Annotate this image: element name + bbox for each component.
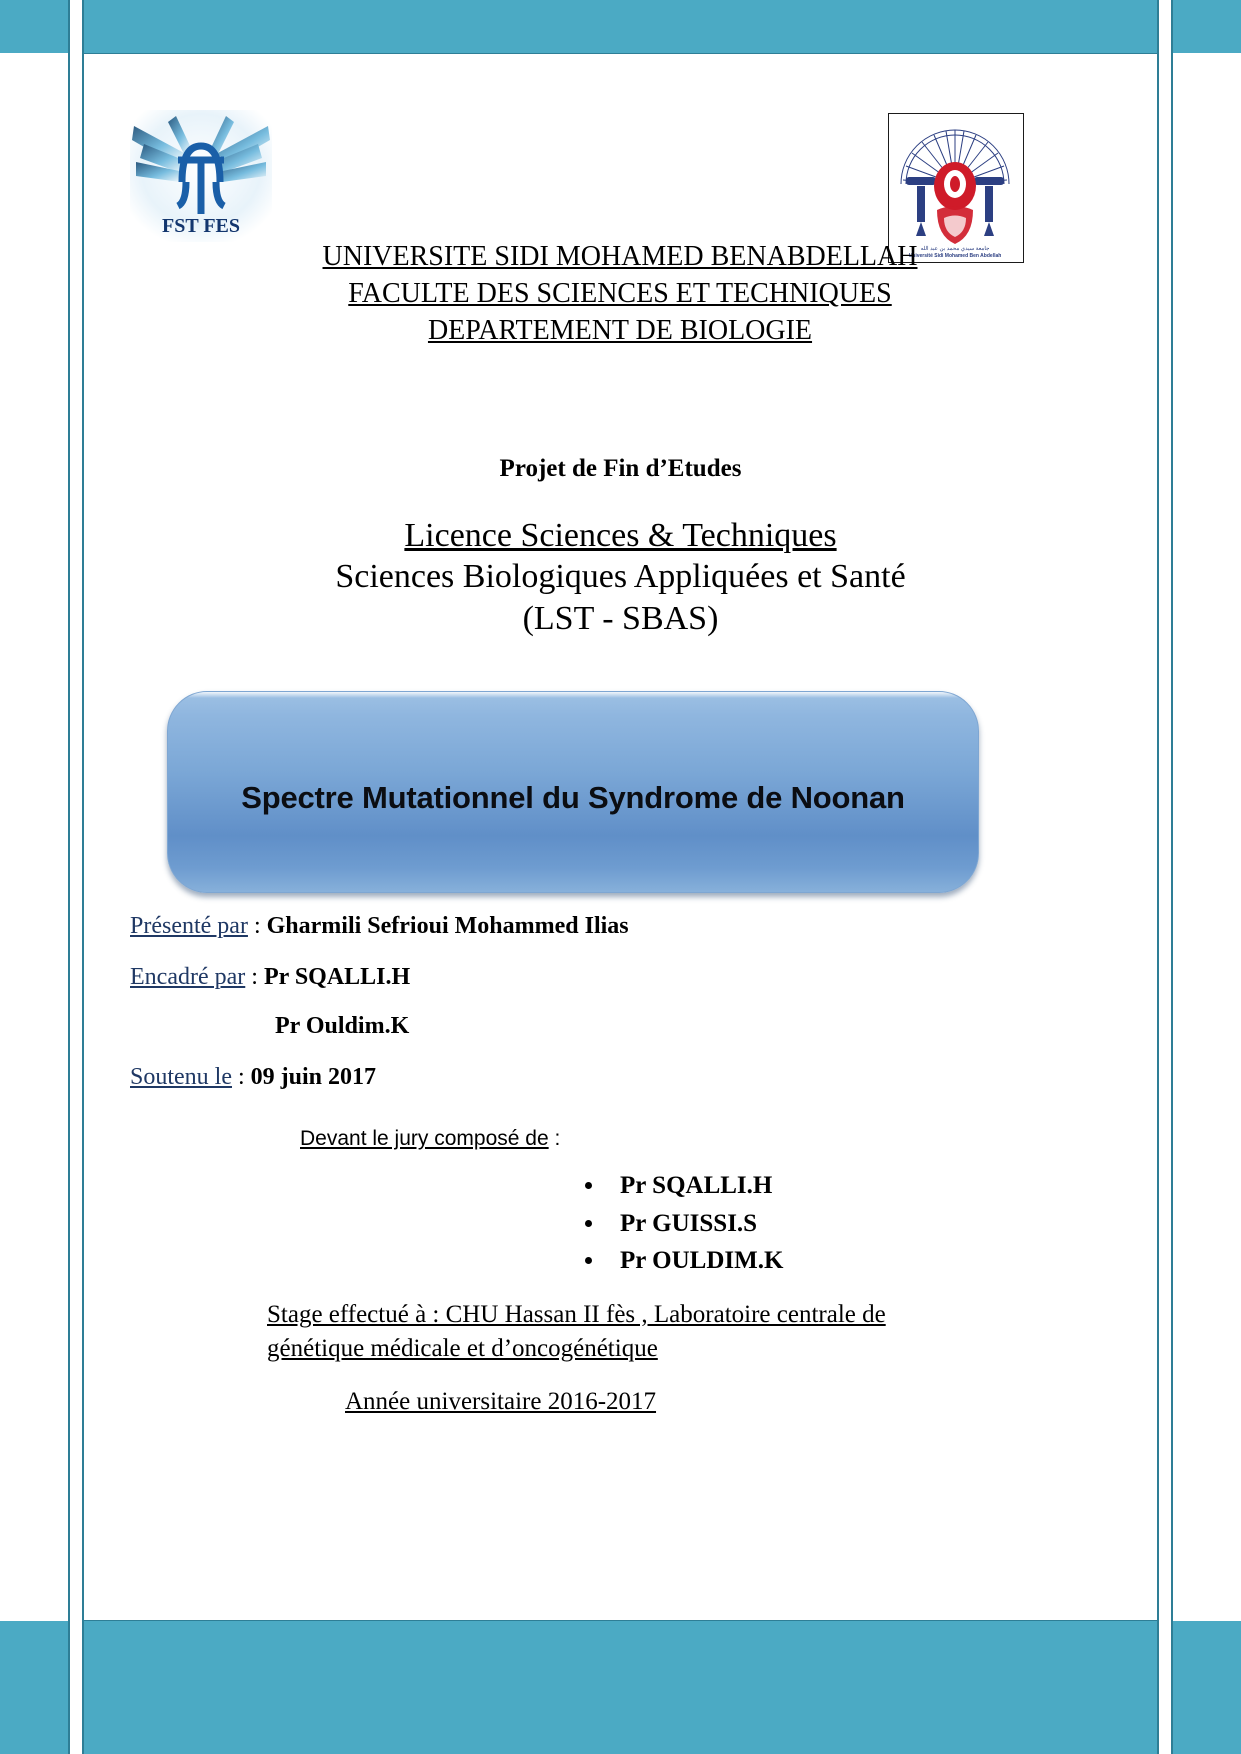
internship-line-2: génétique médicale et d’oncogénétique xyxy=(267,1335,658,1362)
border-rule-right-inner xyxy=(1157,0,1159,1754)
svg-text:FST FES: FST FES xyxy=(162,215,240,237)
border-rule-left-outer xyxy=(68,0,70,1754)
supervisor-value-secondary: Pr Ouldim.K xyxy=(275,1013,1130,1040)
defence-date-label: Soutenu le xyxy=(130,1064,232,1090)
border-rule-right-outer xyxy=(1171,0,1173,1754)
border-rule-left-inner xyxy=(82,0,84,1754)
top-band-main xyxy=(84,0,1157,54)
list-item: Pr OULDIM.K xyxy=(606,1242,783,1280)
degree-block: Licence Sciences & Techniques Sciences B… xyxy=(90,515,1151,639)
metadata-block: Présenté par : Gharmili Sefrioui Mohamme… xyxy=(130,913,1130,1115)
defence-date-separator: : xyxy=(232,1064,251,1090)
defence-date-value: 09 juin 2017 xyxy=(251,1064,376,1090)
internship-line-1: Stage effectué à : CHU Hassan II fès , L… xyxy=(267,1301,886,1328)
internship-info: Stage effectué à : CHU Hassan II fès , L… xyxy=(267,1298,987,1366)
university-heading: UNIVERSITE SIDI MOHAMED BENABDELLAH FACU… xyxy=(280,239,960,350)
department-name: DEPARTEMENT DE BIOLOGIE xyxy=(428,315,812,346)
top-band-right xyxy=(1173,0,1241,53)
degree-line-2: Sciences Biologiques Appliquées et Santé xyxy=(90,556,1151,597)
fst-fes-logo: FST FES xyxy=(130,110,272,242)
project-type-label: Projet de Fin d’Etudes xyxy=(90,455,1151,483)
document-cover-page: FST FES xyxy=(0,0,1241,1754)
bottom-band-right xyxy=(1173,1621,1241,1754)
thesis-title: Spectre Mutationnel du Syndrome de Noona… xyxy=(168,780,978,816)
fst-fes-logo-graphic: FST FES xyxy=(130,110,272,242)
presented-by-separator: : xyxy=(248,913,267,939)
list-item: Pr SQALLI.H xyxy=(606,1167,783,1205)
supervisor-label: Encadré par xyxy=(130,964,245,990)
defence-date-row: Soutenu le : 09 juin 2017 xyxy=(130,1064,1130,1091)
degree-line-1: Licence Sciences & Techniques xyxy=(404,517,836,554)
jury-members-list: Pr SQALLI.H Pr GUISSI.S Pr OULDIM.K xyxy=(580,1167,783,1280)
jury-heading-text: Devant le jury composé de xyxy=(300,1127,549,1150)
bottom-band-left xyxy=(0,1621,68,1754)
top-band-left xyxy=(0,0,68,53)
supervisor-separator: : xyxy=(245,964,264,990)
list-item: Pr GUISSI.S xyxy=(606,1205,783,1243)
jury-heading: Devant le jury composé de : xyxy=(300,1127,560,1151)
jury-heading-suffix: : xyxy=(549,1127,561,1150)
cover-content: FST FES xyxy=(90,55,1151,1620)
academic-year: Année universitaire 2016-2017 xyxy=(345,1388,656,1416)
thesis-title-plaque: Spectre Mutationnel du Syndrome de Noona… xyxy=(167,691,979,893)
faculty-name: FACULTE DES SCIENCES ET TECHNIQUES xyxy=(348,278,891,309)
supervisor-row: Encadré par : Pr SQALLI.H Pr Ouldim.K xyxy=(130,964,1130,1040)
supervisor-value: Pr SQALLI.H xyxy=(264,964,410,990)
bottom-band-main xyxy=(84,1620,1157,1754)
presented-by-value: Gharmili Sefrioui Mohammed Ilias xyxy=(267,913,629,939)
degree-line-3: (LST - SBAS) xyxy=(90,598,1151,639)
university-name: UNIVERSITE SIDI MOHAMED BENABDELLAH xyxy=(323,241,918,272)
presented-by-label: Présenté par xyxy=(130,913,248,939)
presented-by-row: Présenté par : Gharmili Sefrioui Mohamme… xyxy=(130,913,1130,940)
